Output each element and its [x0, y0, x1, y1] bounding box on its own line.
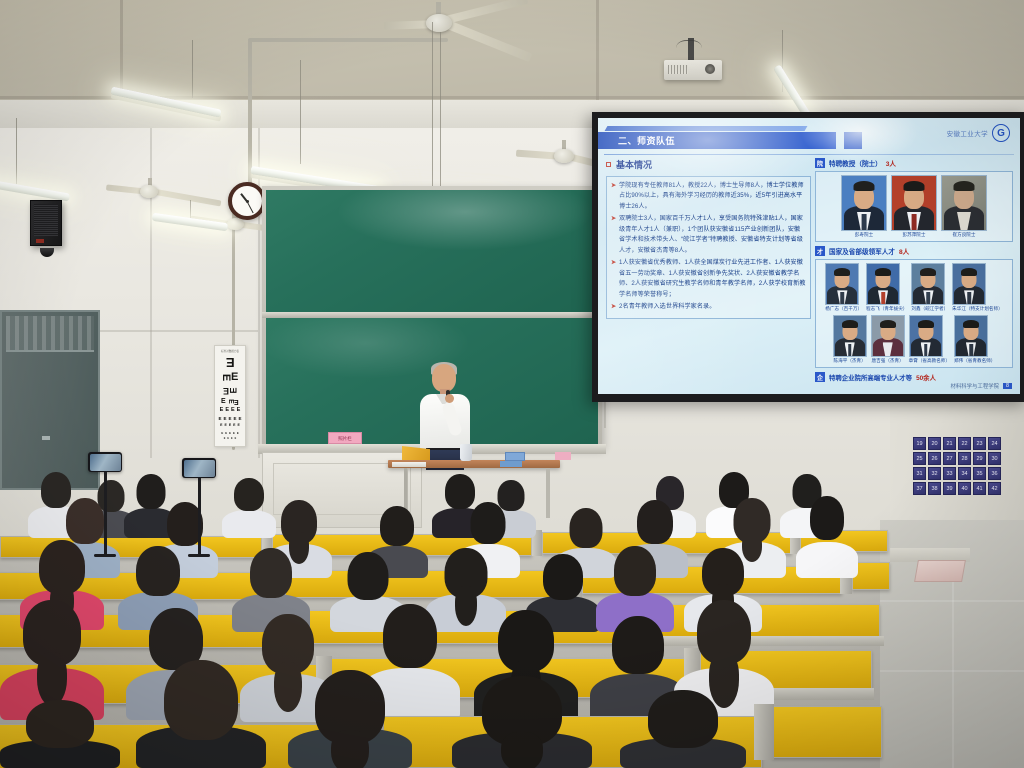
portrait-hair [918, 320, 934, 328]
number-chip: 30 [988, 452, 1001, 465]
photo-group-heading-text: 特聘教授（院士） [829, 158, 882, 168]
logo-wordmark: 安徽工业大学 [947, 128, 988, 138]
person-shoulders [796, 542, 858, 578]
person-head [26, 700, 94, 748]
portrait-photo [866, 263, 900, 305]
number-chip: 41 [973, 482, 986, 495]
photo-group-count: 3人 [886, 158, 896, 168]
portrait-hair [920, 268, 936, 276]
fan-blade [149, 188, 221, 206]
portrait-hair [954, 181, 975, 191]
photo-row: 彭寿院士 彭苏萍院士 [819, 175, 1009, 238]
person-head [637, 500, 673, 544]
smartphone-recording[interactable] [88, 452, 122, 472]
eye-chart-row: EEEEE [217, 417, 243, 422]
bench-divider-post [754, 704, 774, 760]
person-head [614, 546, 656, 596]
group-badge-icon: 院 [815, 158, 825, 168]
portrait-name: 崔方良院士 [941, 232, 987, 238]
number-chip: 26 [928, 452, 941, 465]
eye-chart-row: EE [217, 372, 243, 383]
photo-group-footer: 企 特聘企业院所高端专业人才等 50余人 [815, 372, 1013, 382]
slide-bullet: ➤ 2名青年教师入选世界科学家名录。 [611, 302, 806, 312]
document-stack [392, 462, 426, 467]
person-head [348, 552, 389, 600]
portrait-name: 彭寿院士 [841, 232, 887, 238]
blue-name-card [500, 461, 522, 467]
person-head [383, 604, 437, 668]
portrait-photo [909, 315, 943, 357]
group-badge-icon: 企 [815, 372, 825, 382]
slide-footer: 材料科学与工程学院 8 [950, 382, 1012, 390]
portrait-cell: 章霄（省高教名师） [909, 315, 950, 364]
speaker-grille [34, 204, 58, 236]
audience-member [620, 690, 746, 768]
projection-screen: 二、师资队伍 安徽工业大学 G 基本情况 ➤ 学院现有专任教师81人，教授22人… [592, 112, 1024, 402]
presentation-slide: 二、师资队伍 安徽工业大学 G 基本情况 ➤ 学院现有专任教师81人，教授22人… [598, 118, 1020, 394]
portrait-name: 杨广志（百千万） [825, 306, 862, 312]
person-head [164, 660, 238, 740]
portrait-cell: 彭寿院士 [841, 175, 887, 238]
portrait-tie [927, 292, 931, 304]
portrait-cell: 杨广志（百千万） [825, 263, 862, 312]
slide-bullet: ➤ 1人获安徽省优秀教师、1人获全国煤炭行业先进工作者、1人获安徽省五一劳动奖章… [611, 258, 806, 300]
portrait-hair [875, 268, 891, 276]
audience-member [796, 496, 858, 578]
arrow-bullet-icon: ➤ [611, 302, 616, 312]
clock-minute-hand [246, 201, 253, 213]
eye-chart-row: E [217, 356, 243, 369]
portrait-tie [967, 292, 971, 304]
number-chip: 21 [943, 437, 956, 450]
ceiling-beam [596, 0, 599, 100]
portrait-cell: 朱华江（特支计划名师） [952, 263, 1003, 312]
eye-chart-row: EEEE [217, 408, 243, 414]
portrait-hair [834, 268, 850, 276]
portrait-cell: 刘鑫（皖江学者） [911, 263, 948, 312]
portrait-photo [825, 263, 859, 305]
number-chip: 25 [913, 452, 926, 465]
cardboard-box [914, 560, 966, 582]
slide-section-heading: 基本情况 [606, 158, 811, 171]
slide-page-number: 8 [1003, 383, 1012, 389]
portrait-photo [911, 263, 945, 305]
eye-chart: 标准对数视力表 E EE EE EEE EEEE EEEEE EEEEE EEE… [214, 345, 246, 447]
phone-screen [90, 454, 121, 471]
person-head [612, 616, 664, 674]
side-door[interactable] [0, 310, 100, 490]
portrait-hair [842, 320, 858, 328]
person-head [380, 506, 414, 546]
tripod-pole [198, 478, 201, 556]
slide-bullet-text: 2名青年教师入选世界科学家名录。 [619, 302, 715, 312]
square-bullet-icon [606, 162, 611, 167]
fan-hub [227, 218, 244, 230]
eye-chart-row: EE [217, 386, 243, 395]
presenter-head [432, 364, 456, 392]
ceiling-beam [120, 0, 123, 100]
number-chip: 37 [913, 482, 926, 495]
chalkboard-divider [262, 312, 602, 318]
number-chip: 20 [928, 437, 941, 450]
portrait-name: 章霄（省高教名师） [909, 358, 950, 364]
number-chip: 36 [988, 467, 1001, 480]
chalkboard-upper-panel [266, 190, 598, 312]
eye-chart-row: EEE [217, 398, 243, 405]
number-chip: 29 [973, 452, 986, 465]
arrow-bullet-icon: ➤ [611, 181, 616, 212]
bench-backrest [772, 706, 882, 758]
phone-screen [184, 460, 215, 477]
lecture-hall-photo: 标准对数视力表 E EE EE EEE EEEE EEEEE EEEEE EEE… [0, 0, 1024, 768]
door-transom [6, 316, 94, 352]
audience-member [136, 660, 266, 768]
portrait-tie [924, 344, 928, 356]
number-chip: 38 [928, 482, 941, 495]
number-chip: 34 [958, 467, 971, 480]
light-hanger [16, 118, 17, 184]
projector-cables [676, 40, 702, 60]
portrait-cell: 崔方良院士 [941, 175, 987, 238]
wall-clock [228, 182, 266, 220]
number-board-row: 25 26 27 28 29 30 [913, 452, 1005, 465]
number-chip: 31 [913, 467, 926, 480]
slide-header-rule [604, 154, 1014, 155]
portrait-tie [969, 344, 973, 356]
number-chip: 40 [958, 482, 971, 495]
portrait-name: 程志飞（青年拔尖） [866, 306, 907, 312]
floor-tile-seam [952, 560, 954, 768]
portrait-name: 唐吉强（杰青） [871, 358, 905, 364]
pink-wall-sign-text: 照片栏 [329, 433, 361, 445]
presenter-hand [445, 394, 454, 403]
portrait-photo [833, 315, 867, 357]
tripod-pole [104, 472, 107, 556]
portrait-name: 彭苏萍院士 [891, 232, 937, 238]
portrait-tie [862, 214, 867, 230]
portrait-photo [891, 175, 937, 231]
photo-row: 杨广志（百千万） 程志飞（青年拔尖） [819, 263, 1009, 312]
portrait-tie [848, 344, 852, 356]
wall-speaker [30, 200, 62, 246]
audience-member [0, 700, 120, 768]
photo-group-footer-text: 特聘企业院所高端专业人才等 [829, 373, 912, 382]
portrait-tie [841, 292, 845, 304]
portrait-hair [880, 320, 896, 328]
slide-photo-column: 院 特聘教授（院士） 3人 [815, 158, 1013, 382]
portrait-cell: 程志飞（青年拔尖） [866, 263, 907, 312]
number-chip: 27 [943, 452, 956, 465]
ceiling-projector [664, 60, 722, 80]
portrait-hair [963, 320, 979, 328]
portrait-hair [961, 268, 977, 276]
arrow-bullet-icon: ➤ [611, 214, 616, 256]
photo-group-count: 8人 [899, 246, 909, 256]
person-head [648, 690, 718, 748]
slide-bullet-box: ➤ 学院现有专任教师81人，教授22人，博士生导师8人，博士学位教师占比90%以… [606, 176, 811, 319]
number-chip: 23 [973, 437, 986, 450]
slide-bullet: ➤ 双聘院士3人，国家百千万人才1人，享受国务院特殊津贴1人，国家级青年人才1人… [611, 214, 806, 256]
photo-group-heading: 院 特聘教授（院士） 3人 [815, 158, 1013, 168]
portrait-photo [841, 175, 887, 231]
person-ponytail [501, 732, 543, 768]
photo-group-heading: 才 国家及省部级领军人才 8人 [815, 246, 1013, 256]
portrait-name: 朱华江（特支计划名师） [952, 306, 1003, 312]
person-head [471, 502, 506, 544]
fan-hub [554, 149, 574, 163]
person-head [250, 548, 292, 598]
person-head [136, 546, 180, 596]
clock-center-pin [246, 200, 249, 203]
portrait-cell: 陈海平（杰青） [833, 315, 867, 364]
arrow-bullet-icon: ➤ [611, 258, 616, 300]
slide-bullet: ➤ 学院现有专任教师81人，教授22人，博士生导师8人，博士学位教师占比90%以… [611, 181, 806, 212]
person-head [543, 554, 583, 600]
light-hanger [440, 32, 441, 204]
slide-footer-text: 材料科学与工程学院 [950, 382, 999, 390]
number-board-row: 19 20 21 22 23 24 [913, 437, 1005, 450]
portrait-cell: 唐吉强（杰青） [871, 315, 905, 364]
person-head [234, 478, 264, 511]
eye-chart-caption: 标准对数视力表 [217, 349, 243, 353]
logo-ring-icon: G [992, 124, 1010, 142]
group-badge-icon: 才 [815, 246, 825, 256]
desk-leg [546, 468, 550, 518]
photo-row: 陈海平（杰青） 唐吉强（杰青） [819, 315, 1009, 364]
water-cup [460, 444, 472, 461]
pink-wall-sign: 照片栏 [328, 432, 362, 444]
person-head [810, 496, 844, 540]
slide-bullet-text: 1人获安徽省优秀教师、1人获全国煤炭行业先进工作者、1人获安徽省五一劳动奖章、1… [619, 258, 806, 300]
portrait-hair [854, 181, 875, 191]
number-chip: 28 [958, 452, 971, 465]
portrait-photo [952, 263, 986, 305]
portrait-photo [871, 315, 905, 357]
portrait-cell: 彭苏萍院士 [891, 175, 937, 238]
eye-chart-row: EEEEE [217, 424, 243, 428]
slide-bullet-text: 学院现有专任教师81人，教授22人，博士生导师8人，博士学位教师占比90%以上，… [619, 181, 806, 212]
chalkboard-glare [266, 190, 598, 312]
number-chip: 19 [913, 437, 926, 450]
number-chip: 39 [943, 482, 956, 495]
portrait-name: 刘鑫（皖江学者） [911, 306, 948, 312]
speaker-badge [36, 239, 44, 243]
slide-bullet-text: 双聘院士3人，国家百千万人才1人，享受国务院特殊津贴1人，国家级青年人才1人（兼… [619, 214, 806, 256]
smartphone-recording[interactable] [182, 458, 216, 478]
fan-hub [140, 185, 158, 198]
number-chip: 24 [988, 437, 1001, 450]
portrait-name: 郑伟（省青教名师） [954, 358, 995, 364]
portrait-photo [941, 175, 987, 231]
blue-name-card [505, 452, 525, 461]
number-chip: 22 [958, 437, 971, 450]
portrait-photo [954, 315, 988, 357]
slide-text-column: 基本情况 ➤ 学院现有专任教师81人，教授22人，博士生导师8人，博士学位教师占… [606, 158, 811, 319]
number-board-row: 37 38 39 40 41 42 [913, 482, 1005, 495]
slide-section-heading-text: 基本情况 [616, 158, 652, 171]
portrait-hair [904, 181, 925, 191]
eye-chart-row: EEEEE [217, 432, 243, 435]
portrait-name: 陈海平（杰青） [833, 358, 867, 364]
audience-member [452, 676, 592, 768]
portrait-cell: 郑伟（省青教名师） [954, 315, 995, 364]
light-hanger [192, 40, 193, 98]
number-chip: 35 [973, 467, 986, 480]
number-chip: 42 [988, 482, 1001, 495]
projector-vent [668, 65, 688, 74]
slide-decor-swoosh [605, 126, 808, 131]
door-handle[interactable] [42, 436, 50, 440]
audience-member [288, 670, 412, 768]
photo-panel-leaders: 杨广志（百千万） 程志飞（青年拔尖） [815, 259, 1013, 368]
eye-chart-row: EEEE [217, 438, 243, 440]
fan-hub [426, 14, 452, 32]
light-hanger [300, 60, 301, 164]
number-chip: 32 [928, 467, 941, 480]
portrait-tie [881, 292, 885, 304]
person-ponytail [331, 730, 369, 768]
number-board-row: 31 32 33 34 35 36 [913, 467, 1005, 480]
portrait-tie [912, 214, 917, 230]
seat-number-board: 19 20 21 22 23 24 25 26 27 28 29 30 31 3… [913, 437, 1005, 497]
photo-group-footer-count: 50余人 [916, 373, 936, 382]
ceiling-fan [400, 2, 580, 62]
photo-group-heading-text: 国家及省部级领军人才 [829, 246, 895, 256]
photo-panel-academicians: 彭寿院士 彭苏萍院士 [815, 171, 1013, 242]
number-chip: 33 [943, 467, 956, 480]
pink-name-card [555, 452, 571, 460]
person-ponytail [37, 652, 67, 706]
person-head [570, 508, 603, 548]
university-logo: 安徽工业大学 G [947, 124, 1010, 142]
slide-title: 二、师资队伍 [618, 134, 675, 147]
projector-lens [705, 64, 715, 74]
